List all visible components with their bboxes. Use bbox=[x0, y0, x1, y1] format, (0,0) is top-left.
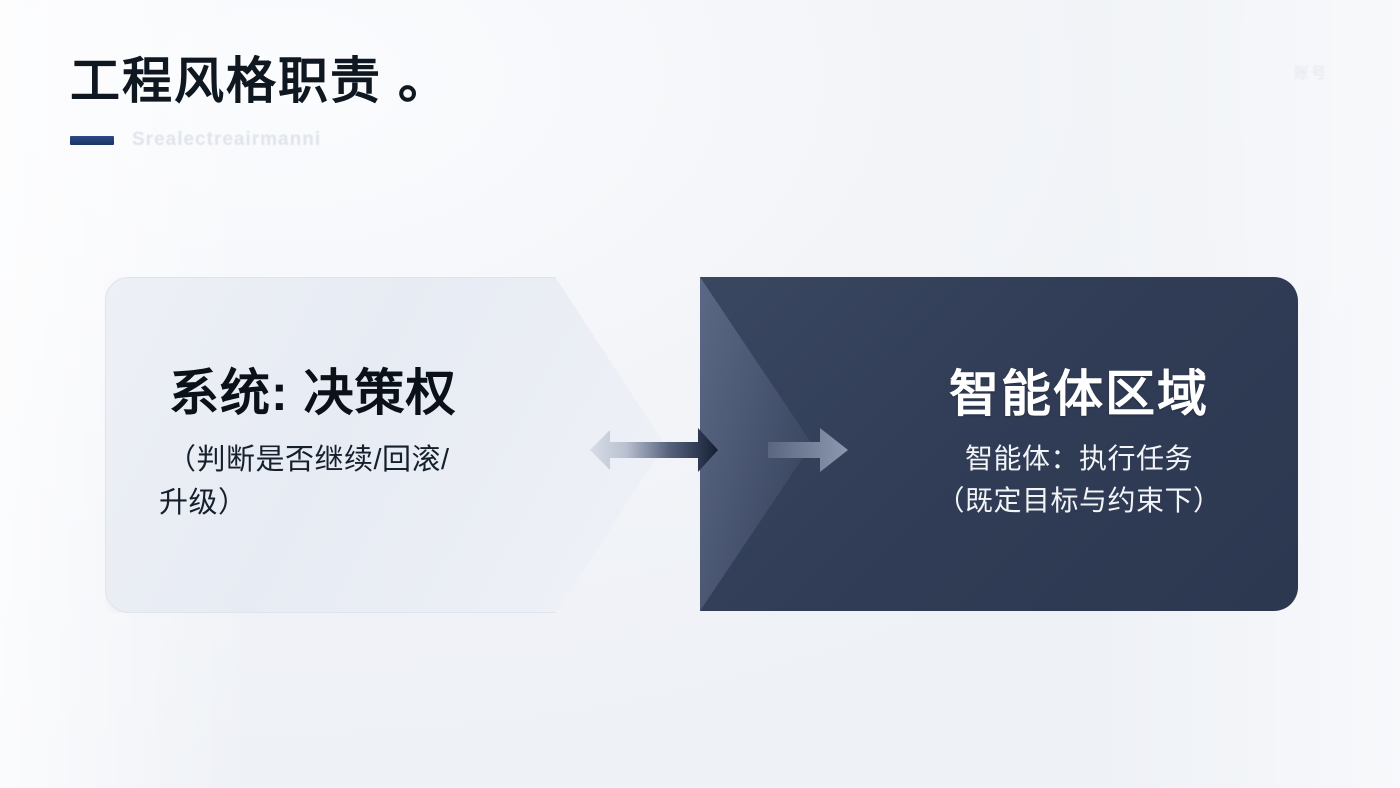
right-card-title: 智能体区域 bbox=[949, 367, 1209, 422]
left-card-content: 系统: 决策权 （判断是否继续/回滚/升级） bbox=[105, 277, 665, 613]
right-card-subtitle-block: 智能体：执行任务 （既定目标与约束下） bbox=[936, 438, 1221, 522]
flow-diagram: 系统: 决策权 （判断是否继续/回滚/升级） 智能体区域 智能体：执行任务 （既… bbox=[0, 0, 1400, 788]
right-card-subtitle-line2: （既定目标与约束下） bbox=[936, 480, 1221, 522]
slide-canvas: 工程风格职责 。 Srealectreairmanni 账号 系统: 决策权 （… bbox=[0, 0, 1400, 788]
right-card-content: 智能体区域 智能体：执行任务 （既定目标与约束下） bbox=[700, 277, 1298, 611]
left-card-title: 系统: 决策权 bbox=[169, 365, 605, 421]
right-card-subtitle-line1: 智能体：执行任务 bbox=[936, 438, 1221, 480]
left-card-subtitle: （判断是否继续/回滚/升级） bbox=[159, 439, 459, 525]
